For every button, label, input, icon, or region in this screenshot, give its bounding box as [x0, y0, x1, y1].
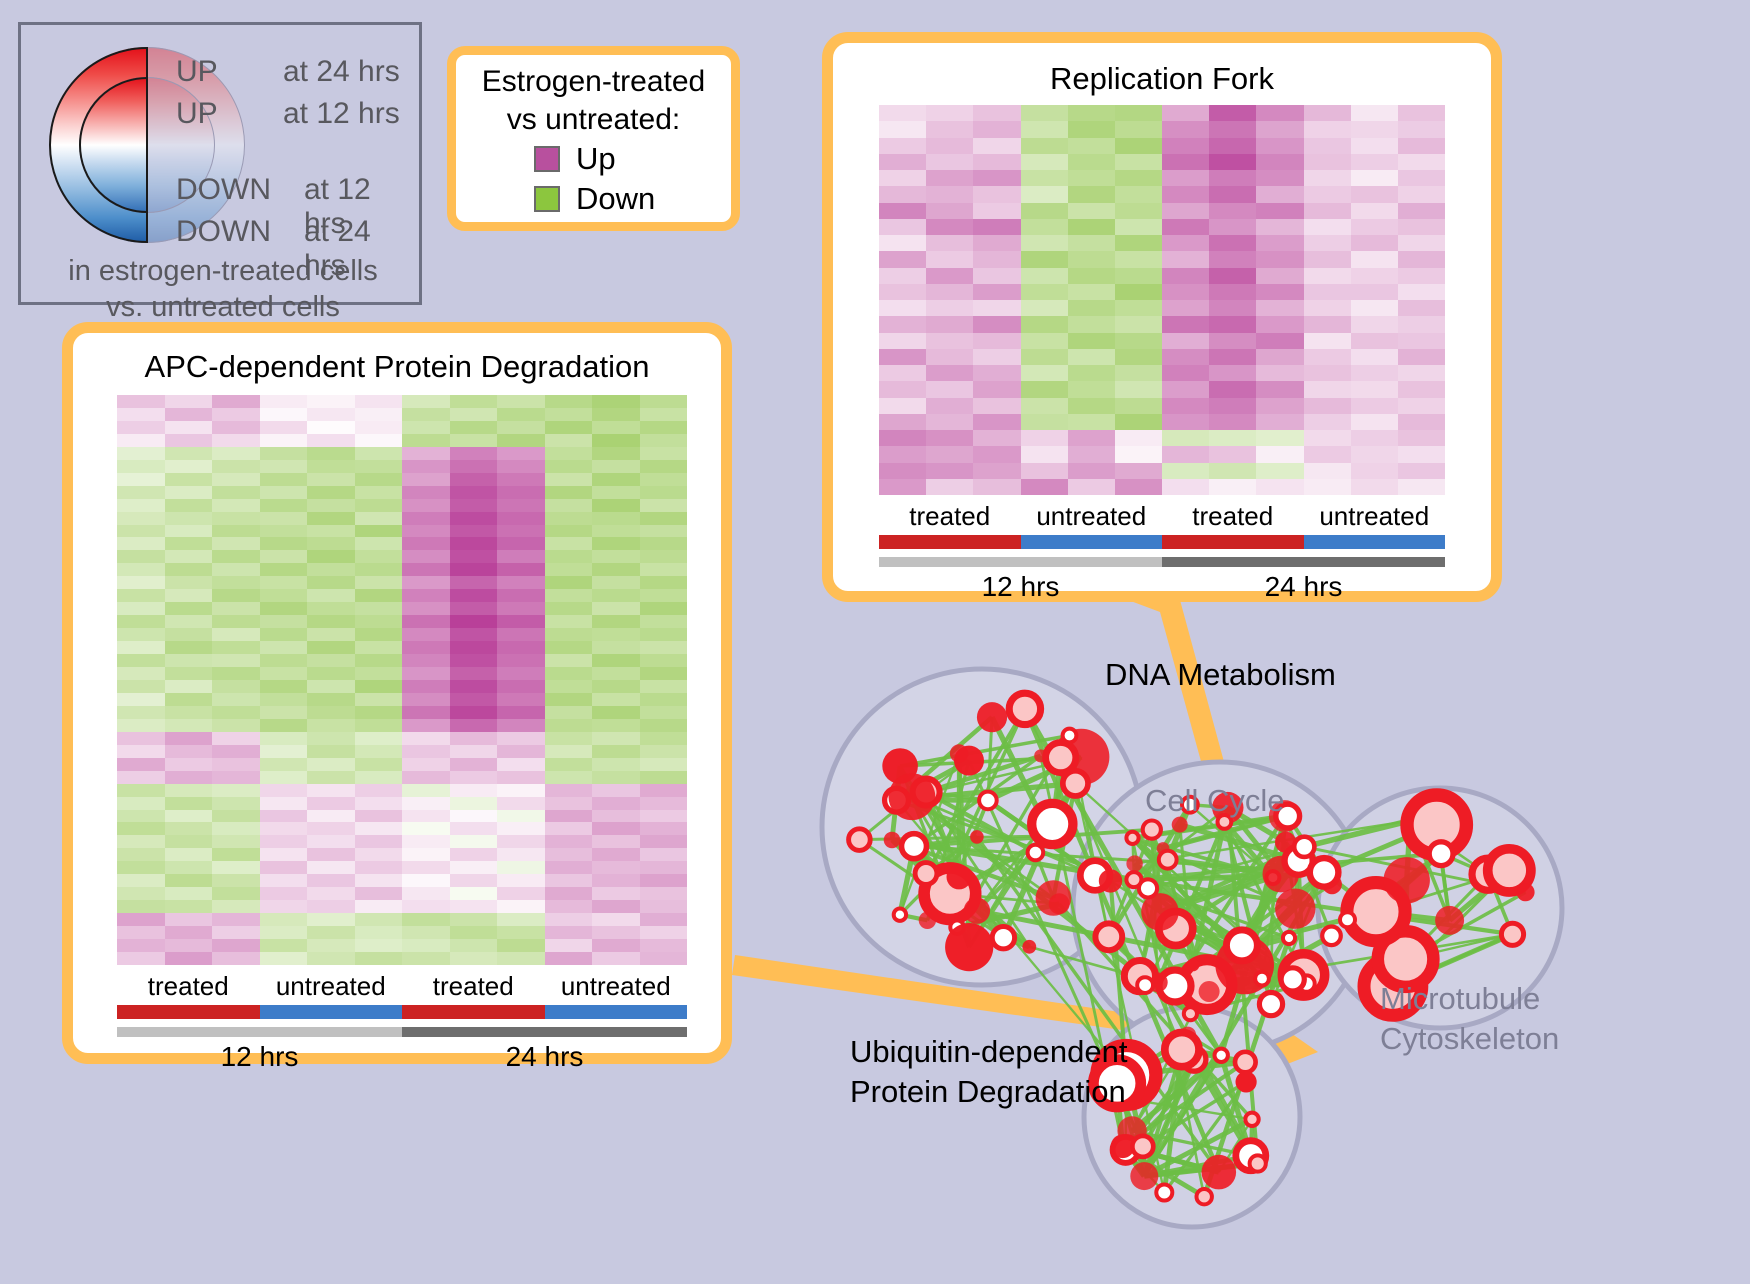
heatmap-cell [879, 219, 926, 235]
heatmap-cell [117, 861, 165, 874]
heatmap-cell [973, 170, 1020, 186]
heatmap-cell [260, 550, 308, 563]
heatmap-cell [260, 641, 308, 654]
heatmap-cell [879, 268, 926, 284]
heatmap-cell [450, 771, 498, 784]
heatmap-cell [402, 654, 450, 667]
heatmap-cell [165, 408, 213, 421]
heatmap-cell [1068, 219, 1115, 235]
heatmap-cell [1115, 186, 1162, 202]
heatmap-cell [1021, 121, 1068, 137]
heatmap-cell [260, 874, 308, 887]
heatmap-cell [260, 563, 308, 576]
heatmap-cell [212, 654, 260, 667]
heatmap-cell [1256, 316, 1303, 332]
heatmap-cell [450, 848, 498, 861]
heatmap-cell [307, 460, 355, 473]
heatmap-cell [545, 952, 593, 965]
heatmap-cell [926, 365, 973, 381]
heatmap-cell [1021, 203, 1068, 219]
heatmap-cell [402, 667, 450, 680]
heatmap-cell [307, 887, 355, 900]
heatmap-cell [592, 887, 640, 900]
heatmap-cell [212, 628, 260, 641]
network-node [902, 834, 927, 859]
heatmap-cell [212, 395, 260, 408]
heatmap-cell [926, 105, 973, 121]
condition-label: untreated [1304, 501, 1446, 532]
heatmap-cell [165, 602, 213, 615]
heatmap-cell [497, 473, 545, 486]
heatmap-cell [640, 732, 688, 745]
heatmap-cell [1115, 479, 1162, 495]
heatmap-cell [1162, 333, 1209, 349]
heatmap-cell [1021, 138, 1068, 154]
heatmap-cell [545, 797, 593, 810]
heatmap-cell [1209, 479, 1256, 495]
heatmap-cell [355, 939, 403, 952]
network-node [1126, 872, 1141, 887]
heatmap-cell [117, 486, 165, 499]
heatmap-cell [450, 615, 498, 628]
heatmap-cell [212, 680, 260, 693]
heatmap-cell [497, 589, 545, 602]
heatmap-cell [402, 719, 450, 732]
heatmap-cell [1304, 463, 1351, 479]
heatmap-cell [1351, 381, 1398, 397]
condition-color-segment [117, 1005, 260, 1019]
heatmap-cell [165, 447, 213, 460]
heatmap-cell [355, 784, 403, 797]
heatmap-cell [355, 680, 403, 693]
heatmap-cell [307, 771, 355, 784]
network-node [950, 744, 968, 762]
heatmap-cell [165, 887, 213, 900]
heatmap-cell [1115, 365, 1162, 381]
heatmap-cell [165, 822, 213, 835]
network-node [1095, 923, 1122, 950]
heatmap-cell [1351, 121, 1398, 137]
heatmap-cell [260, 952, 308, 965]
heatmap-cell [640, 434, 688, 447]
panel-title-apc: APC-dependent Protein Degradation [73, 349, 721, 385]
heatmap-cell [1398, 105, 1445, 121]
condition-color-segment [1304, 535, 1446, 549]
heatmap-cell [355, 563, 403, 576]
heatmap-cell [640, 615, 688, 628]
heatmap-cell [1256, 251, 1303, 267]
network-node [1516, 883, 1534, 901]
heatmap-cell [212, 460, 260, 473]
heatmap-cell [640, 473, 688, 486]
time-labels-replication-fork: 12 hrs24 hrs [879, 571, 1445, 603]
heatmap-cell [640, 486, 688, 499]
heatmap-cell [640, 408, 688, 421]
heatmap-cell [307, 499, 355, 512]
network-node [1126, 855, 1142, 871]
heatmap-cell [260, 719, 308, 732]
heatmap-cell [1162, 154, 1209, 170]
heatmap-cell [1304, 446, 1351, 462]
heatmap-cell [1068, 463, 1115, 479]
heatmap-cell [1351, 138, 1398, 154]
heatmap-cell [117, 537, 165, 550]
heatmap-cell [1209, 398, 1256, 414]
heatmap-cell [307, 473, 355, 486]
heatmap-cell [545, 550, 593, 563]
updown-legend-title: Estrogen-treated vs untreated: [456, 63, 731, 139]
heatmap-cell [545, 861, 593, 874]
heatmap-cell [450, 589, 498, 602]
heatmap-cell [260, 589, 308, 602]
heatmap-cell [117, 706, 165, 719]
heatmap-cell [545, 537, 593, 550]
heatmap-cell [450, 797, 498, 810]
heatmap-cell [1068, 333, 1115, 349]
heatmap-cell [212, 887, 260, 900]
heatmap-cell [1351, 446, 1398, 462]
heatmap-cell [640, 447, 688, 460]
heatmap-cell [592, 926, 640, 939]
heatmap-cell [1351, 316, 1398, 332]
heatmap-cell [1115, 414, 1162, 430]
heatmap-cell [307, 421, 355, 434]
heatmap-cell [165, 512, 213, 525]
heatmap-cell [1021, 300, 1068, 316]
heatmap-cell [260, 939, 308, 952]
heatmap-cell [1115, 235, 1162, 251]
heatmap-cell [117, 395, 165, 408]
heatmap-cell [1021, 398, 1068, 414]
network-node [1126, 832, 1138, 844]
heatmap-cell [165, 732, 213, 745]
heatmap-cell [260, 537, 308, 550]
heatmap-cell [1304, 105, 1351, 121]
heatmap-cell [260, 848, 308, 861]
heatmap-cell [640, 680, 688, 693]
heatmap-cell [973, 349, 1020, 365]
heatmap-cell [545, 913, 593, 926]
heatmap-cell [1256, 430, 1303, 446]
heatmap-cell [1398, 170, 1445, 186]
heatmap-cell [497, 693, 545, 706]
heatmap-cell [117, 654, 165, 667]
heatmap-cell [1209, 154, 1256, 170]
heatmap-cell [117, 822, 165, 835]
heatmap-cell [592, 550, 640, 563]
heatmap-cell [1162, 479, 1209, 495]
heatmap-cell [1256, 121, 1303, 137]
heatmap-cell [1351, 219, 1398, 235]
heatmap-cell [165, 810, 213, 823]
heatmap-cell [450, 395, 498, 408]
heatmap-cell [402, 512, 450, 525]
heatmap-cell [1068, 446, 1115, 462]
heatmap-cell [307, 810, 355, 823]
network-node [1137, 977, 1153, 993]
heatmap-cell [497, 719, 545, 732]
heatmap-cell [1351, 268, 1398, 284]
network-node [1310, 858, 1339, 887]
condition-color-segment [879, 535, 1021, 549]
heatmap-cell [1162, 300, 1209, 316]
heatmap-cell [307, 835, 355, 848]
heatmap-cell [640, 512, 688, 525]
heatmap-cell [497, 667, 545, 680]
heatmap-cell [545, 693, 593, 706]
heatmap-cell [973, 154, 1020, 170]
heatmap-cell [1351, 333, 1398, 349]
time-label: 24 hrs [1162, 571, 1445, 603]
condition-label: treated [879, 501, 1021, 532]
network-node [1435, 906, 1464, 935]
heatmap-cell [307, 667, 355, 680]
heatmap-cell [1256, 105, 1303, 121]
heatmap-cell [165, 667, 213, 680]
heatmap-cell [545, 421, 593, 434]
heatmap-cell [926, 284, 973, 300]
heatmap-cell [1398, 154, 1445, 170]
heatmap-cell [592, 952, 640, 965]
heatmap-cell [212, 537, 260, 550]
heatmap-cell [260, 667, 308, 680]
heatmap-cell [640, 952, 688, 965]
heatmap-cell [212, 486, 260, 499]
heatmap-cell [117, 900, 165, 913]
heatmap-cell [497, 680, 545, 693]
heatmap-cell [592, 408, 640, 421]
heatmap-cell [355, 421, 403, 434]
heatmap-cell [973, 414, 1020, 430]
heatmap-cell [355, 952, 403, 965]
heatmap-cell [117, 525, 165, 538]
heatmap-cell [212, 848, 260, 861]
heatmap-cell [117, 797, 165, 810]
heatmap-cell [1209, 381, 1256, 397]
heatmap-cell [973, 251, 1020, 267]
heatmap-cell [592, 667, 640, 680]
heatmap-cell [117, 667, 165, 680]
heatmap-cell [402, 797, 450, 810]
heatmap-cell [117, 874, 165, 887]
heatmap-cell [307, 758, 355, 771]
heatmap-cell [165, 460, 213, 473]
heatmap-cell [973, 463, 1020, 479]
heatmap-cell [1115, 203, 1162, 219]
heatmap-cell [879, 381, 926, 397]
heatmap-cell [879, 446, 926, 462]
heatmap-cell [926, 170, 973, 186]
heatmap-cell [592, 537, 640, 550]
heatmap-cell [260, 758, 308, 771]
heatmap-cell [545, 719, 593, 732]
heatmap-cell [1398, 186, 1445, 202]
heatmap-cell [402, 939, 450, 952]
heatmap-cell [973, 219, 1020, 235]
heatmap-cell [117, 719, 165, 732]
heatmap-cell [545, 848, 593, 861]
heatmap-cell [1115, 138, 1162, 154]
heatmap-cell [545, 939, 593, 952]
heatmap-cell [402, 421, 450, 434]
heatmap-cell [355, 628, 403, 641]
heatmap-cell [1304, 219, 1351, 235]
network-node [1130, 1162, 1158, 1190]
heatmap-cell [165, 874, 213, 887]
heatmap-cell [307, 447, 355, 460]
up-color-swatch [534, 146, 560, 172]
network-node [1501, 923, 1523, 945]
heatmap-cell [640, 550, 688, 563]
heatmap-cell [355, 926, 403, 939]
network-node [1099, 869, 1122, 892]
heatmap-cell [879, 154, 926, 170]
network-node [884, 832, 901, 849]
heatmap-cell [402, 900, 450, 913]
heatmap-cell [450, 952, 498, 965]
heatmap-cell [1021, 479, 1068, 495]
heatmap-cell [592, 654, 640, 667]
heatmap-cell [355, 473, 403, 486]
heatmap-cell [450, 563, 498, 576]
heatmap-cell [260, 887, 308, 900]
heatmap-cell [450, 525, 498, 538]
heatmap-cell [497, 771, 545, 784]
heatmap-cell [165, 926, 213, 939]
heatmap-cell [640, 810, 688, 823]
heatmap-apc [117, 395, 687, 965]
heatmap-cell [355, 874, 403, 887]
heatmap-cell [260, 460, 308, 473]
heatmap-cell [450, 913, 498, 926]
heatmap-cell [640, 421, 688, 434]
heatmap-cell [640, 913, 688, 926]
heatmap-cell [973, 203, 1020, 219]
time-label: 12 hrs [879, 571, 1162, 603]
heatmap-cell [402, 602, 450, 615]
heatmap-cell [402, 550, 450, 563]
heatmap-cell [165, 706, 213, 719]
network-node [1294, 837, 1314, 857]
network-node [1184, 1007, 1197, 1020]
legend-item-up: Up [534, 141, 616, 177]
heatmap-cell [1256, 203, 1303, 219]
heatmap-cell [402, 628, 450, 641]
heatmap-cell [307, 408, 355, 421]
heatmap-cell [592, 900, 640, 913]
heatmap-cell [1209, 219, 1256, 235]
heatmap-cell [926, 316, 973, 332]
heatmap-cell [212, 667, 260, 680]
time-bar-apc [117, 1027, 687, 1037]
heatmap-cell [165, 576, 213, 589]
heatmap-cell [165, 952, 213, 965]
heatmap-cell [165, 771, 213, 784]
heatmap-cell [212, 525, 260, 538]
heatmap-cell [1256, 414, 1303, 430]
heatmap-cell [402, 822, 450, 835]
network-node [1156, 1185, 1172, 1201]
heatmap-cell [402, 576, 450, 589]
heatmap-cell [307, 602, 355, 615]
heatmap-cell [1209, 203, 1256, 219]
heatmap-cell [402, 537, 450, 550]
heatmap-cell [450, 900, 498, 913]
heatmap-cell [1209, 463, 1256, 479]
heatmap-cell [1304, 203, 1351, 219]
heatmap-cell [497, 615, 545, 628]
heatmap-cell [1398, 365, 1445, 381]
heatmap-cell [1021, 414, 1068, 430]
heatmap-cell [592, 628, 640, 641]
heatmap-cell [260, 512, 308, 525]
condition-bar-apc [117, 1005, 687, 1019]
heatmap-cell [497, 460, 545, 473]
heatmap-cell [879, 333, 926, 349]
heatmap-cell [545, 602, 593, 615]
heatmap-cell [973, 333, 1020, 349]
heatmap-cell [165, 848, 213, 861]
heatmap-cell [592, 434, 640, 447]
heatmap-cell [879, 430, 926, 446]
heatmap-cell [212, 797, 260, 810]
heatmap-cell [402, 473, 450, 486]
heatmap-cell [592, 939, 640, 952]
network-node [1226, 930, 1257, 961]
heatmap-cell [497, 602, 545, 615]
heatmap-cell [212, 408, 260, 421]
condition-labels-apc: treateduntreatedtreateduntreated [117, 971, 687, 1002]
heatmap-cell [117, 848, 165, 861]
heatmap-cell [450, 460, 498, 473]
heatmap-cell [1398, 138, 1445, 154]
heatmap-cell [926, 300, 973, 316]
heatmap-cell [1162, 268, 1209, 284]
heatmap-cell [640, 499, 688, 512]
condition-labels-replication-fork: treateduntreatedtreateduntreated [879, 501, 1445, 532]
heatmap-cell [260, 615, 308, 628]
heatmap-cell [1256, 479, 1303, 495]
heatmap-cell [926, 430, 973, 446]
heatmap-cell [879, 414, 926, 430]
heatmap-cell [1162, 381, 1209, 397]
heatmap-cell [545, 810, 593, 823]
heatmap-cell [592, 797, 640, 810]
heatmap-cell [497, 563, 545, 576]
heatmap-cell [212, 641, 260, 654]
heatmap-cell [402, 758, 450, 771]
network-node [1009, 693, 1040, 724]
time-color-segment [402, 1027, 687, 1037]
heatmap-cell [1068, 268, 1115, 284]
network-node [919, 912, 936, 929]
heatmap-cell [592, 576, 640, 589]
heatmap-cell [117, 771, 165, 784]
heatmap-cell [1209, 284, 1256, 300]
heatmap-cell [402, 913, 450, 926]
footer-line-1: in estrogen-treated cells [21, 253, 425, 289]
heatmap-cell [879, 186, 926, 202]
heatmap-cell [402, 408, 450, 421]
heatmap-cell [592, 719, 640, 732]
heatmap-cell [212, 602, 260, 615]
heatmap-cell [926, 446, 973, 462]
heatmap-cell [212, 421, 260, 434]
heatmap-cell [1068, 203, 1115, 219]
heatmap-cell [497, 784, 545, 797]
network-node [1202, 1155, 1237, 1190]
heatmap-cell [117, 473, 165, 486]
